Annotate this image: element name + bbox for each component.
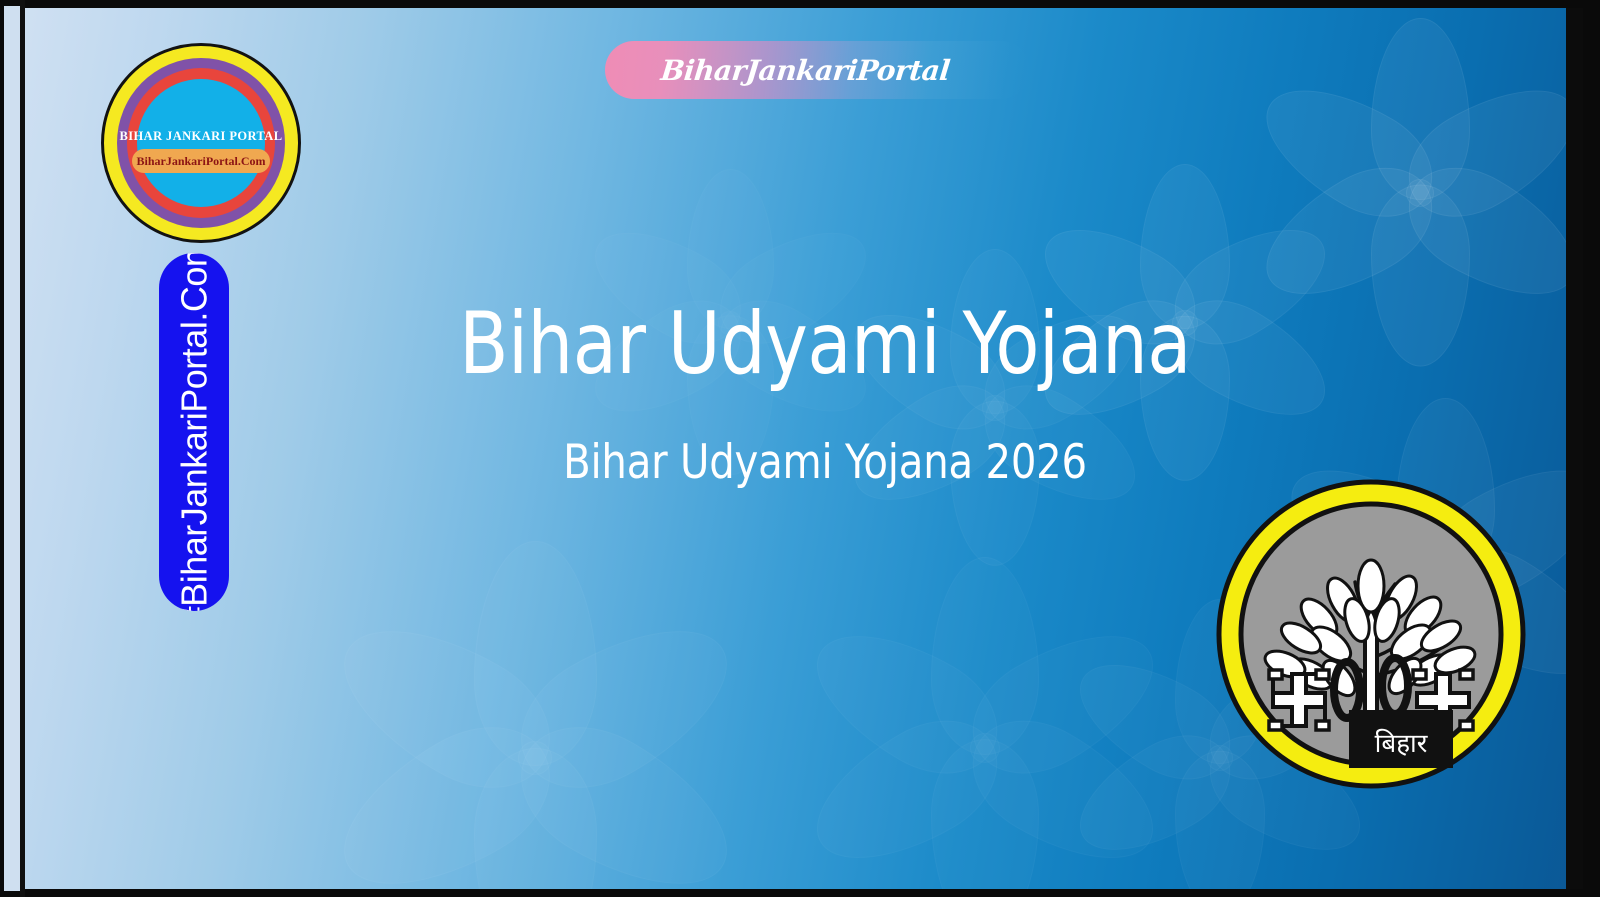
decor-flower-center [1406,179,1434,207]
page-title: Bihar Udyami Yojana [360,298,1290,391]
portal-logo[interactable]: BIHAR JANKARI PORTAL BiharJankariPortal.… [101,43,301,243]
decor-petal [474,748,597,889]
decor-petal [474,541,597,767]
page-subtitle: Bihar Udyami Yojana 2026 [350,435,1300,490]
decor-petal [1389,146,1583,322]
hashtag-tag[interactable]: #BiharJankariPortal.Com [159,253,229,611]
decor-petal [951,697,1176,889]
decor-six-petal-flower [330,553,740,889]
decor-flower-center [970,733,1001,764]
decor-petal [931,739,1039,889]
decor-petal [317,596,574,815]
slide-canvas: BiharJankariPortal BIHAR JANKARI PORTAL … [25,8,1583,889]
decor-petal [496,699,753,889]
gov-emblem[interactable]: बिहार [1215,478,1527,790]
decor-petal [793,697,1018,889]
portal-logo-title: BIHAR JANKARI PORTAL [101,129,301,144]
decor-petal [1389,62,1583,238]
gov-emblem-icon: बिहार [1215,478,1527,790]
decor-petal [931,557,1039,755]
decor-petal [793,605,1018,798]
decor-flower-center [518,741,553,776]
gov-emblem-base-label: बिहार [1375,728,1429,759]
frame-right-border [1566,8,1583,889]
decor-petal [317,699,574,889]
decor-petal [1371,18,1470,200]
brand-banner-label: BiharJankariPortal [659,54,951,87]
frame-left-strip [4,6,20,891]
portal-logo-domain-pill: BiharJankariPortal.Com [132,149,270,173]
decor-petal [951,605,1176,798]
decor-six-petal-flower [805,568,1165,889]
decor-petal [496,596,753,815]
decor-petal [1371,185,1470,367]
hashtag-tag-label: #BiharJankariPortal.Com [173,253,215,611]
decor-petal [1244,146,1451,322]
slide-frame: BiharJankariPortal BIHAR JANKARI PORTAL … [0,0,1600,897]
decor-petal [1244,62,1451,238]
headline-block: Bihar Udyami Yojana Bihar Udyami Yojana … [325,298,1325,490]
brand-banner[interactable]: BiharJankariPortal [605,41,1030,99]
portal-logo-domain-label: BiharJankariPortal.Com [137,154,266,169]
